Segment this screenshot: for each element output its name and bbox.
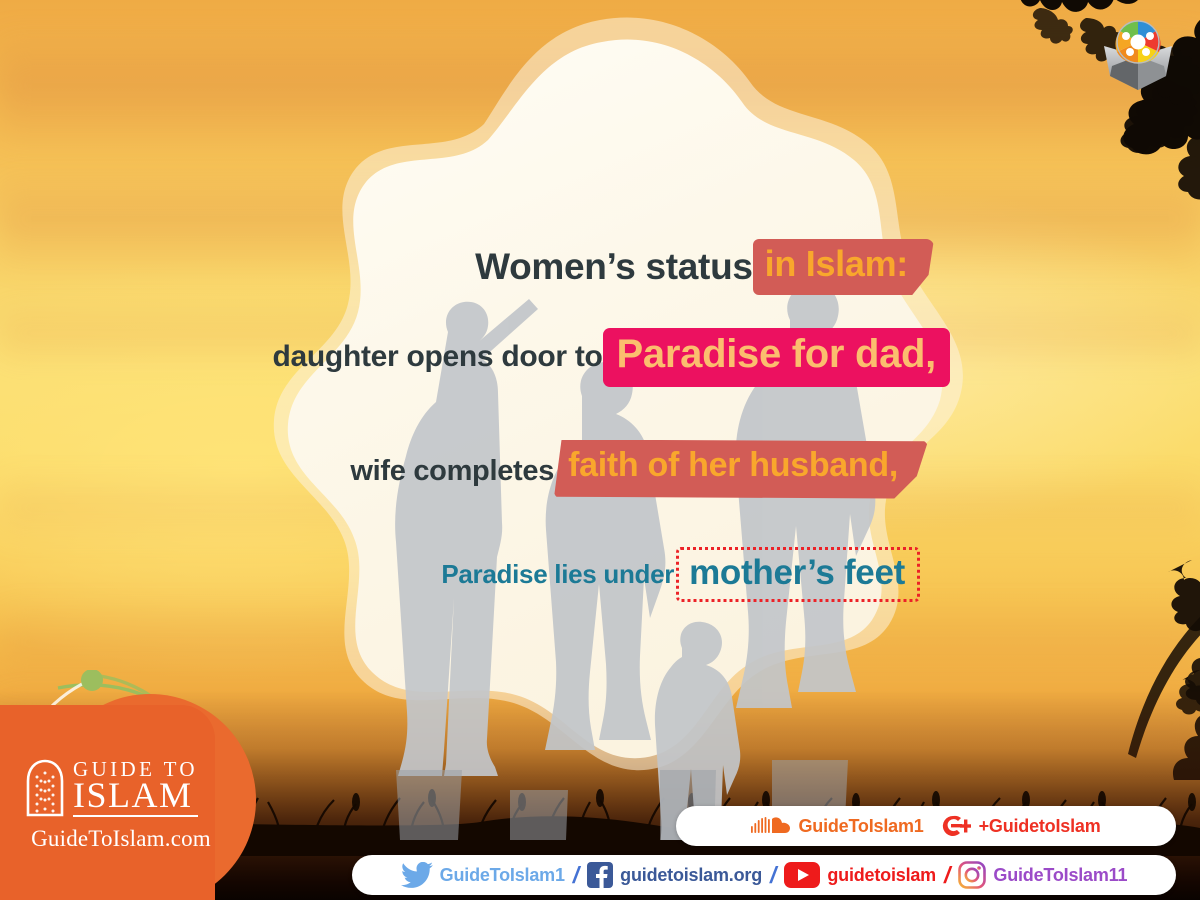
social-bar-secondary: GuideToIslam1 +GuidetoIslam bbox=[676, 806, 1176, 846]
quote-line-1-plain: Women’s status bbox=[475, 246, 752, 288]
quote-line-4-plain: Paradise lies under bbox=[441, 559, 674, 590]
poster-canvas: Women’s status in Islam: daughter opens … bbox=[0, 0, 1200, 900]
social-item-soundcloud[interactable]: GuideToIslam1 bbox=[751, 815, 923, 837]
quote-line-2-highlight: Paradise for dad, bbox=[603, 328, 950, 387]
social-item-googleplus[interactable]: +GuidetoIslam bbox=[942, 814, 1101, 838]
social-separator: / bbox=[573, 862, 579, 889]
instagram-icon bbox=[958, 861, 986, 889]
quote-line-4: Paradise lies under mother’s feet bbox=[250, 546, 950, 602]
social-item-facebook[interactable]: guidetoislam.org bbox=[587, 862, 762, 888]
social-bar-primary: GuideToIslam1 / guidetoislam.org / guide… bbox=[352, 855, 1176, 895]
quote-line-4-highlight: mother’s feet bbox=[676, 547, 920, 602]
brand-logo[interactable]: GUIDE TO ISLAM GuideToIslam.com bbox=[26, 759, 216, 852]
social-separator: / bbox=[770, 862, 776, 889]
quote-line-1: Women’s status in Islam: bbox=[250, 236, 950, 298]
soundcloud-icon bbox=[751, 815, 791, 837]
social-label-soundcloud: GuideToIslam1 bbox=[798, 816, 923, 837]
social-label-youtube: guidetoislam bbox=[827, 865, 936, 886]
logo-islam-text: ISLAM bbox=[73, 777, 198, 817]
social-item-youtube[interactable]: guidetoislam bbox=[784, 862, 936, 888]
quote-line-3-highlight: faith of her husband, bbox=[554, 440, 928, 499]
quote-line-3-plain: wife completes bbox=[350, 455, 554, 488]
social-label-facebook: guidetoislam.org bbox=[620, 865, 762, 886]
globe-book-icon[interactable] bbox=[1098, 16, 1178, 92]
social-item-twitter[interactable]: GuideToIslam1 bbox=[401, 862, 565, 888]
social-label-instagram: GuideToIslam11 bbox=[993, 865, 1127, 886]
social-label-twitter: GuideToIslam1 bbox=[440, 865, 565, 886]
quote-line-2-plain: daughter opens door to bbox=[272, 340, 602, 374]
twitter-icon bbox=[401, 862, 433, 888]
googleplus-icon bbox=[942, 814, 972, 838]
social-separator: / bbox=[944, 862, 950, 889]
logo-domain-text: GuideToIslam.com bbox=[26, 826, 216, 852]
quote-line-3: wife completes faith of her husband, bbox=[250, 440, 950, 502]
youtube-icon bbox=[784, 862, 820, 888]
facebook-icon bbox=[587, 862, 613, 888]
quote-line-1-highlight: in Islam: bbox=[753, 239, 934, 295]
quote-line-2: daughter opens door to Paradise for dad, bbox=[250, 326, 950, 388]
mosque-arch-icon bbox=[26, 759, 64, 817]
quote-block: Women’s status in Islam: daughter opens … bbox=[250, 236, 950, 602]
social-label-googleplus: +GuidetoIslam bbox=[979, 816, 1101, 837]
social-item-instagram[interactable]: GuideToIslam11 bbox=[958, 861, 1127, 889]
